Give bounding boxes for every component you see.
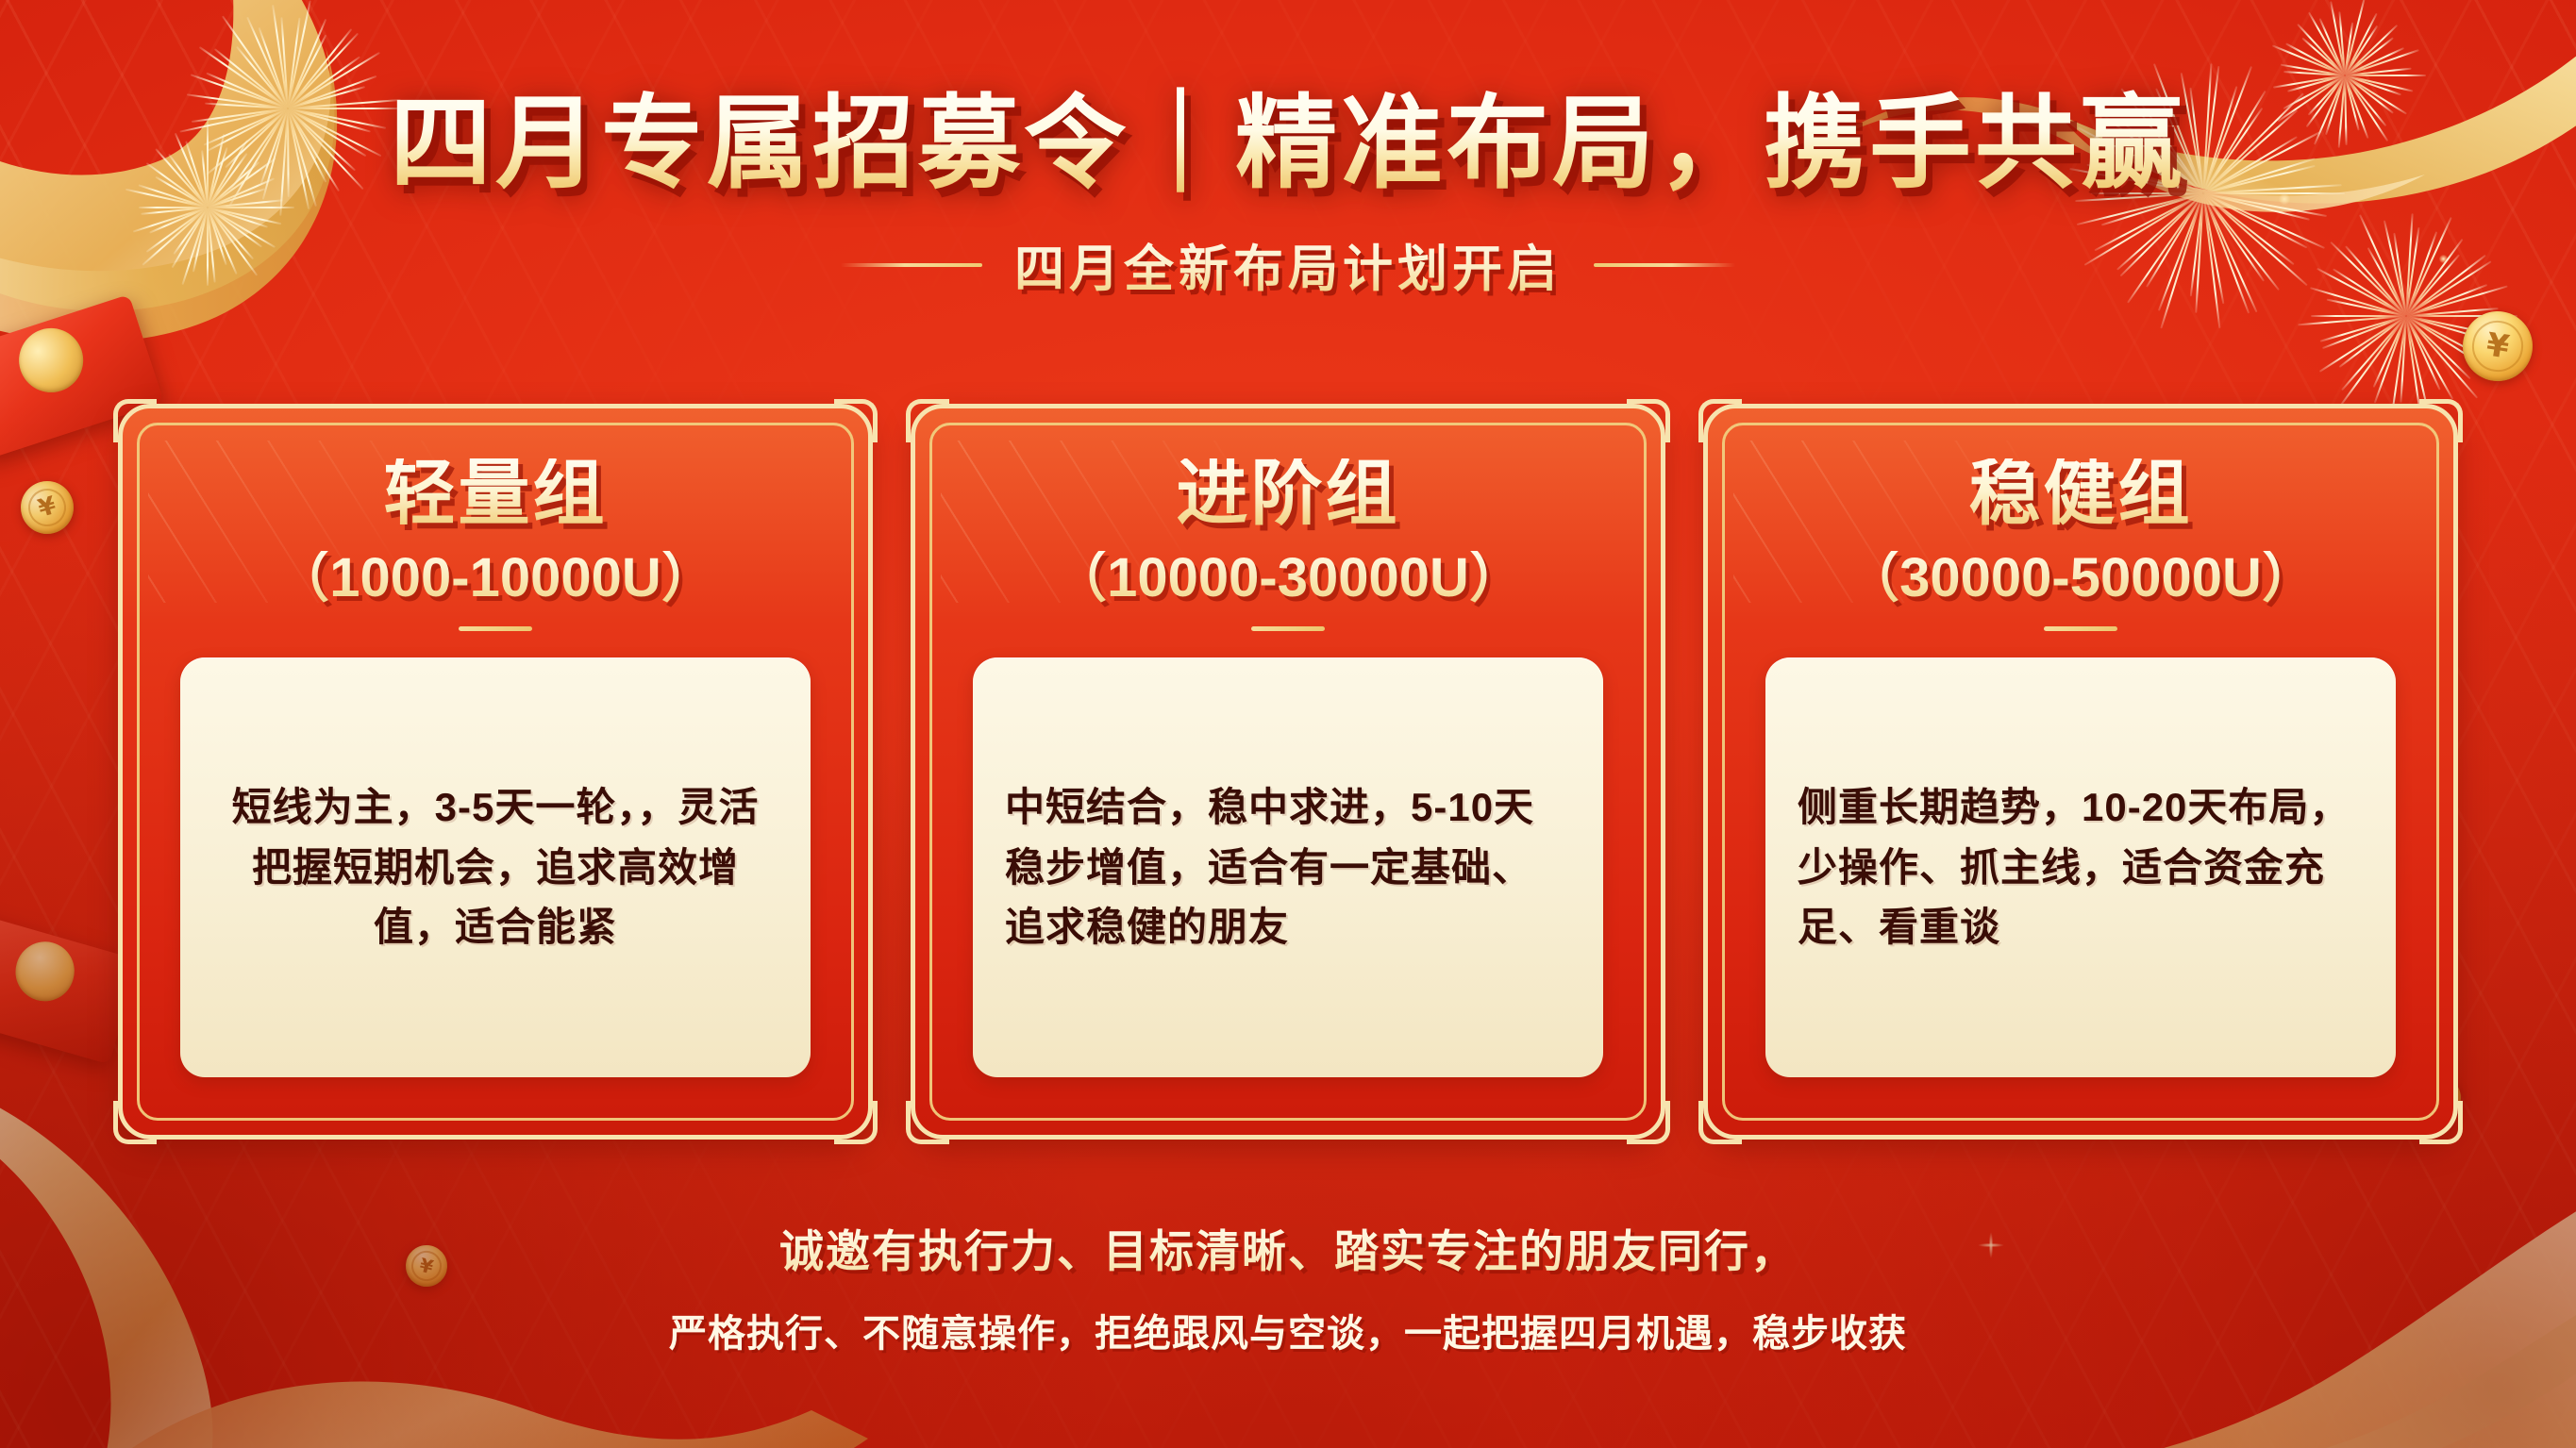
tier-description-panel: 短线为主，3-5天一轮，，灵活把握短期机会，追求高效增值，适合能紧 — [180, 657, 811, 1077]
tier-amount-range: （10000-30000U） — [1052, 551, 1524, 606]
coin-glyph: ¥ — [2484, 328, 2512, 363]
promo-poster: ¥ ¥ ¥ ¥ 四月专属招募令｜精准布局，携手共赢 四月全新布局计划开启 轻量组… — [0, 0, 2576, 1448]
card-body: 进阶组 （10000-30000U） 中短结合，稳中求进，5-10天稳步增值，适… — [924, 417, 1652, 1126]
tier-card-advanced[interactable]: 进阶组 （10000-30000U） 中短结合，稳中求进，5-10天稳步增值，适… — [911, 404, 1665, 1140]
tier-name: 稳健组 — [1969, 458, 2193, 530]
poster-header: 四月专属招募令｜精准布局，携手共赢 四月全新布局计划开启 — [0, 87, 2576, 301]
card-body: 轻量组 （1000-10000U） 短线为主，3-5天一轮，，灵活把握短期机会，… — [131, 417, 860, 1126]
tier-divider — [1251, 626, 1325, 631]
tier-description-text: 短线为主，3-5天一轮，，灵活把握短期机会，追求高效增值，适合能紧 — [212, 777, 778, 957]
firework-burst-icon — [2340, 71, 2350, 80]
page-title: 四月专属招募令｜精准布局，携手共赢 — [0, 87, 2576, 201]
tier-card-light[interactable]: 轻量组 （1000-10000U） 短线为主，3-5天一轮，，灵活把握短期机会，… — [118, 404, 873, 1140]
card-body: 稳健组 （30000-50000U） 侧重长期趋势，10-20天布局，少操作、抓… — [1716, 417, 2445, 1126]
tier-divider — [2044, 626, 2117, 631]
footer-line-secondary: 严格执行、不随意操作，拒绝跟风与空谈，一起把握四月机遇，稳步收获 — [0, 1303, 2576, 1357]
firework-burst-icon — [2401, 311, 2411, 321]
tier-name: 进阶组 — [1177, 458, 1400, 530]
tier-description-panel: 中短结合，稳中求进，5-10天稳步增值，适合有一定基础、追求稳健的朋友 — [973, 657, 1603, 1077]
tier-card-list: 轻量组 （1000-10000U） 短线为主，3-5天一轮，，灵活把握短期机会，… — [0, 404, 2576, 1140]
subtitle-rule-right — [1594, 263, 1735, 267]
subtitle-rule-left — [841, 263, 982, 267]
poster-footer: 诚邀有执行力、目标清晰、踏实专注的朋友同行， 严格执行、不随意操作，拒绝跟风与空… — [0, 1215, 2576, 1357]
subtitle-row: 四月全新布局计划开启 — [0, 229, 2576, 301]
tier-divider — [459, 626, 532, 631]
footer-line-primary: 诚邀有执行力、目标清晰、踏实专注的朋友同行， — [0, 1215, 2576, 1280]
tier-name: 轻量组 — [384, 458, 608, 530]
tier-description-text: 侧重长期趋势，10-20天布局，少操作、抓主线，适合资金充足、看重谈 — [1798, 777, 2364, 957]
tier-amount-range: （30000-50000U） — [1845, 551, 2317, 606]
gold-coin-icon: ¥ — [2458, 307, 2538, 387]
tier-description-text: 中短结合，稳中求进，5-10天稳步增值，适合有一定基础、追求稳健的朋友 — [1005, 777, 1571, 957]
tier-card-steady[interactable]: 稳健组 （30000-50000U） 侧重长期趋势，10-20天布局，少操作、抓… — [1703, 404, 2458, 1140]
tier-description-panel: 侧重长期趋势，10-20天布局，少操作、抓主线，适合资金充足、看重谈 — [1765, 657, 2396, 1077]
page-subtitle: 四月全新布局计划开启 — [1014, 229, 1562, 301]
tier-amount-range: （1000-10000U） — [275, 551, 716, 606]
